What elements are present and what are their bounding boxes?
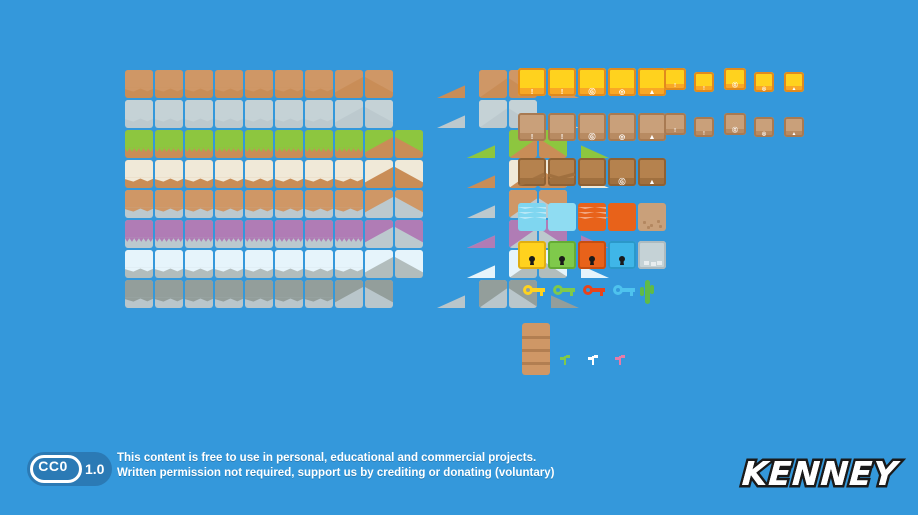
ramp-top xyxy=(467,145,495,158)
block-lock-gray xyxy=(638,241,666,269)
plant-green xyxy=(560,353,570,365)
liquid-body xyxy=(548,203,576,231)
terrain-tile-dirt xyxy=(275,70,303,98)
key-shaft xyxy=(562,288,575,292)
crate-tan-crates-small: ! xyxy=(664,113,686,135)
plant-leaf-right xyxy=(621,355,625,358)
plant-white xyxy=(588,353,598,365)
terrain-tile-purple xyxy=(155,220,183,248)
ramp-shape xyxy=(437,115,465,128)
ladder-rung xyxy=(522,336,550,339)
terrain-tile-stone xyxy=(335,100,363,128)
terrain-ramp-snow xyxy=(467,265,495,278)
crate-wood-crates: ▲ xyxy=(638,158,666,186)
terrain-tile-gray-stone xyxy=(125,280,153,308)
ramp-shape xyxy=(467,175,495,188)
terrain-tile-sand xyxy=(155,160,183,188)
block-lock-blue xyxy=(608,241,636,269)
crate-border xyxy=(578,158,606,186)
terrain-tile-dirt xyxy=(335,70,363,98)
terrain-tile-purple xyxy=(185,220,213,248)
terrain-slope-stone xyxy=(479,100,507,128)
terrain-tile-dirt-stone xyxy=(215,190,243,218)
kenney-logo: KENNEY KENNEY xyxy=(740,443,900,505)
key-tooth xyxy=(630,291,633,296)
terrain-tile-snow xyxy=(215,250,243,278)
plant-leaf-right xyxy=(594,355,598,358)
crate-gold-crates-small: ◎ xyxy=(754,72,774,92)
terrain-tile-grass xyxy=(305,130,333,158)
ramp-shape xyxy=(581,145,609,158)
crate-gold-crates-large: ▲ xyxy=(638,68,666,96)
ladder-prop xyxy=(522,323,550,375)
key-green xyxy=(553,283,575,299)
terrain-tile-dirt xyxy=(125,70,153,98)
license-line-1: This content is free to use in personal,… xyxy=(117,451,637,466)
keyhole-circle xyxy=(589,256,595,262)
terrain-ramp-right-grass xyxy=(581,145,609,158)
terrain-ramp-dirt-stone xyxy=(467,205,495,218)
key-shaft xyxy=(622,288,635,292)
crate-gold-crates-small: ! xyxy=(664,68,686,90)
terrain-tile-stone xyxy=(215,100,243,128)
keyhole-circle xyxy=(529,256,535,262)
crate-icon-circle: ◎ xyxy=(608,133,636,141)
terrain-tile-grass xyxy=(185,130,213,158)
crate-icon-circle: ◎ xyxy=(608,88,636,96)
crate-icon-exclamation: ! xyxy=(518,133,546,141)
terrain-tile-snow xyxy=(185,250,213,278)
crate-icon-coin: Ⓖ xyxy=(608,178,636,186)
block-lock-orange xyxy=(578,241,606,269)
terrain-ramp-grass xyxy=(467,145,495,158)
terrain-tile-purple xyxy=(335,220,363,248)
crate-icon-circle: ◎ xyxy=(754,86,774,92)
terrain-tile-stone xyxy=(125,100,153,128)
key-blue xyxy=(613,283,635,299)
crate-tan-crates-large: ! xyxy=(518,113,546,141)
crate-icon-triangle: ▲ xyxy=(784,86,804,92)
ladder-rung xyxy=(522,349,550,352)
terrain-tile-snow xyxy=(275,250,303,278)
block-lock-yellow xyxy=(518,241,546,269)
keyhole-circle xyxy=(619,256,625,262)
crate-wood-crates: Ⓖ xyxy=(608,158,636,186)
terrain-tile-snow xyxy=(395,250,423,278)
terrain-tile-snow xyxy=(125,250,153,278)
crate-icon-exclamation: ! xyxy=(664,84,686,90)
liquid-sand-block xyxy=(638,203,666,231)
crate-icon-exclamation: ! xyxy=(518,88,546,96)
crate-icon-coin: Ⓖ xyxy=(724,129,746,135)
crate-gold-crates-large: ! xyxy=(548,68,576,96)
crate-icon-triangle: ▲ xyxy=(638,133,666,141)
license-line-2: Written permission not required, support… xyxy=(117,466,637,481)
liquid-water-body xyxy=(548,203,576,231)
terrain-tile-snow xyxy=(245,250,273,278)
terrain-slope-dirt xyxy=(479,70,507,98)
terrain-tile-sand xyxy=(335,160,363,188)
terrain-tile-stone xyxy=(185,100,213,128)
crate-icon-exclamation: ! xyxy=(548,88,576,96)
key-tooth xyxy=(570,291,573,296)
cc0-label: CC0 xyxy=(27,452,79,480)
key-tooth xyxy=(600,291,603,296)
crate-icon-coin: Ⓖ xyxy=(578,133,606,141)
terrain-tile-purple xyxy=(305,220,333,248)
terrain-tile-sand xyxy=(305,160,333,188)
terrain-tile-sand xyxy=(245,160,273,188)
terrain-slope-gray-stone xyxy=(479,280,507,308)
terrain-tile-grass xyxy=(335,130,363,158)
terrain-tile-gray-stone xyxy=(335,280,363,308)
terrain-tile-dirt xyxy=(245,70,273,98)
license-text: This content is free to use in personal,… xyxy=(117,451,637,481)
plant-leaf-left xyxy=(560,357,564,360)
terrain-tile-dirt-stone xyxy=(335,190,363,218)
crate-gold-crates-large: ◎ xyxy=(608,68,636,96)
terrain-tile-stone xyxy=(305,100,333,128)
terrain-tile-sand xyxy=(395,160,423,188)
key-shaft xyxy=(532,288,545,292)
terrain-tile-snow xyxy=(335,250,363,278)
terrain-tile-stone xyxy=(275,100,303,128)
crate-tan-crates-large: ! xyxy=(548,113,576,141)
crate-tan-crates-small: Ⓖ xyxy=(724,113,746,135)
terrain-tile-gray-stone xyxy=(365,280,393,308)
crate-icon-triangle: ▲ xyxy=(638,178,666,186)
crate-wood-crates xyxy=(548,158,576,186)
footer-bar: CC0 1.0 This content is free to use in p… xyxy=(0,435,918,515)
ramp-shape xyxy=(467,205,495,218)
key-shaft xyxy=(592,288,605,292)
terrain-tile-purple xyxy=(245,220,273,248)
crate-tan-crates-large: ◎ xyxy=(608,113,636,141)
terrain-ramp-purple xyxy=(467,235,495,248)
sand-speck xyxy=(659,225,662,228)
ramp-top xyxy=(467,265,495,278)
key-yellow xyxy=(523,283,545,299)
terrain-tile-dirt-stone xyxy=(275,190,303,218)
liquid-lava-body xyxy=(608,203,636,231)
crate-gold-crates-large: Ⓖ xyxy=(578,68,606,96)
kenney-logo-text: KENNEY xyxy=(738,443,902,505)
terrain-tile-gray-stone xyxy=(245,280,273,308)
terrain-tile-dirt-stone xyxy=(245,190,273,218)
keyhole-circle xyxy=(559,256,565,262)
plant-leaf-left xyxy=(588,357,592,360)
terrain-tile-grass xyxy=(245,130,273,158)
sand-speck xyxy=(650,224,653,227)
terrain-tile-stone xyxy=(245,100,273,128)
terrain-tile-sand xyxy=(275,160,303,188)
crate-icon-exclamation: ! xyxy=(694,86,714,92)
terrain-tile-purple xyxy=(365,220,393,248)
cactus-arm-right xyxy=(650,285,654,294)
sand-speck xyxy=(643,221,646,224)
key-red xyxy=(583,283,605,299)
crate-tan-crates-small: ◎ xyxy=(754,117,774,137)
terrain-tile-purple xyxy=(215,220,243,248)
terrain-tile-dirt-stone xyxy=(365,190,393,218)
cactus-prop xyxy=(640,280,654,304)
terrain-ramp-sand xyxy=(467,175,495,188)
terrain-tile-gray-stone xyxy=(275,280,303,308)
terrain-tile-dirt xyxy=(365,70,393,98)
ramp-top xyxy=(467,235,495,248)
terrain-tile-gray-stone xyxy=(155,280,183,308)
sand-speck xyxy=(647,226,650,229)
crate-gold-crates-small: Ⓖ xyxy=(724,68,746,90)
ramp-shape xyxy=(437,295,465,308)
terrain-tile-purple xyxy=(275,220,303,248)
terrain-tile-dirt-stone xyxy=(155,190,183,218)
terrain-tile-dirt-stone xyxy=(185,190,213,218)
crate-tan-crates-large: Ⓖ xyxy=(578,113,606,141)
plant-leaf-left xyxy=(615,357,619,360)
ladder-rung xyxy=(522,362,550,365)
block-lock-green xyxy=(548,241,576,269)
block-speck xyxy=(657,261,662,265)
terrain-tile-purple xyxy=(395,220,423,248)
crate-icon-exclamation: ! xyxy=(694,131,714,137)
plant-pink xyxy=(615,353,625,365)
crate-icon-triangle: ▲ xyxy=(638,88,666,96)
block-speck xyxy=(644,261,649,265)
key-tooth xyxy=(540,291,543,296)
crate-border xyxy=(518,158,546,186)
terrain-tile-dirt xyxy=(185,70,213,98)
terrain-tile-stone xyxy=(365,100,393,128)
terrain-tile-snow xyxy=(305,250,333,278)
terrain-tile-grass xyxy=(395,130,423,158)
liquid-body xyxy=(608,203,636,231)
cactus-arm-left xyxy=(640,287,644,296)
terrain-tile-dirt-stone xyxy=(305,190,333,218)
terrain-tile-grass xyxy=(155,130,183,158)
crate-tan-crates-small: ▲ xyxy=(784,117,804,137)
terrain-ramp-gray-stone xyxy=(437,295,465,308)
terrain-tile-sand xyxy=(215,160,243,188)
crate-tan-crates-large: ▲ xyxy=(638,113,666,141)
crate-icon-coin: Ⓖ xyxy=(724,84,746,90)
terrain-tile-sand xyxy=(125,160,153,188)
terrain-tile-dirt xyxy=(305,70,333,98)
crate-gold-crates-small: ▲ xyxy=(784,72,804,92)
terrain-ramp-stone xyxy=(437,115,465,128)
terrain-tile-dirt-stone xyxy=(125,190,153,218)
crate-gold-crates-large: ! xyxy=(518,68,546,96)
terrain-tile-grass xyxy=(365,130,393,158)
terrain-tile-sand xyxy=(365,160,393,188)
terrain-tile-dirt xyxy=(215,70,243,98)
crate-wood-crates xyxy=(578,158,606,186)
terrain-tile-snow xyxy=(365,250,393,278)
block-speck xyxy=(651,262,656,266)
terrain-tile-sand xyxy=(185,160,213,188)
terrain-tile-grass xyxy=(215,130,243,158)
crate-tan-crates-small: ! xyxy=(694,117,714,137)
crate-icon-triangle: ▲ xyxy=(784,131,804,137)
sprite-sheet-page: !!Ⓖ◎▲!!Ⓖ◎▲!!Ⓖ◎▲!!Ⓖ◎▲Ⓖ▲ CC0 1.0 This cont… xyxy=(0,0,918,515)
terrain-tile-stone xyxy=(155,100,183,128)
terrain-ramp-dirt xyxy=(437,85,465,98)
terrain-tile-grass xyxy=(275,130,303,158)
crate-icon-coin: Ⓖ xyxy=(578,88,606,96)
terrain-tile-purple xyxy=(125,220,153,248)
crate-icon-exclamation: ! xyxy=(548,133,576,141)
sand-speck xyxy=(657,220,660,223)
terrain-tile-gray-stone xyxy=(185,280,213,308)
plant-leaf-right xyxy=(566,355,570,358)
crate-gold-crates-small: ! xyxy=(694,72,714,92)
liquid-water-top xyxy=(518,203,546,231)
crate-icon-circle: ◎ xyxy=(754,131,774,137)
terrain-tile-gray-stone xyxy=(215,280,243,308)
crate-wood-crates xyxy=(518,158,546,186)
ramp-shape xyxy=(437,85,465,98)
liquid-lava-top xyxy=(578,203,606,231)
cc0-badge: CC0 1.0 xyxy=(27,452,112,486)
crate-icon-exclamation: ! xyxy=(664,129,686,135)
cc0-version: 1.0 xyxy=(85,452,112,486)
terrain-tile-dirt-stone xyxy=(395,190,423,218)
terrain-tile-snow xyxy=(155,250,183,278)
terrain-tile-dirt xyxy=(155,70,183,98)
tile-sheet-canvas: !!Ⓖ◎▲!!Ⓖ◎▲!!Ⓖ◎▲!!Ⓖ◎▲Ⓖ▲ xyxy=(0,0,918,430)
terrain-tile-gray-stone xyxy=(305,280,333,308)
terrain-tile-grass xyxy=(125,130,153,158)
